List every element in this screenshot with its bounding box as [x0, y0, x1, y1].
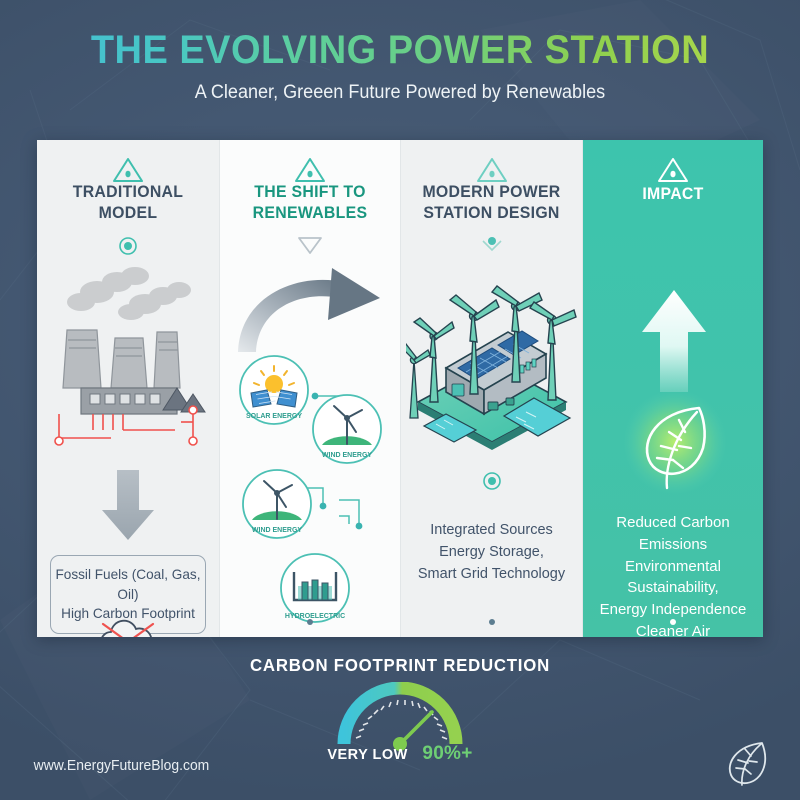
page-title: THE EVOLVING POWER STATION: [20, 28, 780, 73]
hydroelectric-badge[interactable]: HYDROELECTRIC: [277, 550, 353, 626]
column-title-line2: RENEWABLES: [224, 203, 397, 224]
triangle-eye-icon: [656, 156, 690, 184]
column-title-line2: MODEL: [41, 203, 216, 224]
columns-container: TRADITIONALMODEL: [37, 140, 763, 637]
co2-cloud-crossed-icon: CO₂: [95, 618, 161, 637]
footer-url[interactable]: www.EnergyFutureBlog.com: [34, 758, 210, 774]
hydroelectric-label: HYDROELECTRIC: [285, 613, 345, 620]
callout-line3: Environmental: [583, 556, 763, 578]
column-modern-power-station-design[interactable]: MODERN POWERSTATION DESIGN: [400, 140, 582, 637]
wind-energy-badge-2[interactable]: WIND ENERGY: [240, 467, 314, 541]
gauge-value: 90%+: [422, 743, 472, 764]
callout-line5: Energy Independence: [583, 599, 763, 621]
column-shift-to-renewables[interactable]: THE SHIFT TORENEWABLES: [219, 140, 400, 637]
column-title-line1: IMPACT: [587, 184, 760, 205]
modern-design-callout: Integrated Sources Energy Storage, Smart…: [401, 520, 582, 585]
gauge-section: CARBON FOOTPRINT REDUCTION VERY LOW 90%+: [0, 655, 800, 752]
solar-energy-badge[interactable]: SOLAR ENERGY: [237, 353, 311, 427]
concentric-ring-marker: [117, 235, 139, 257]
callout-line2: Emissions: [583, 534, 763, 556]
wind-energy-badge-1[interactable]: WIND ENERGY: [310, 392, 384, 466]
concentric-ring-marker: [481, 470, 503, 492]
column-bottom-dot: [307, 619, 313, 625]
page-subtitle: A Cleaner, Greeen Future Powered by Rene…: [20, 82, 780, 104]
gauge-scale-label: VERY LOW: [327, 747, 408, 763]
callout-line1: Reduced Carbon: [583, 512, 763, 534]
triangle-eye-icon: [475, 156, 509, 184]
column-title-line2: STATION DESIGN: [405, 203, 579, 224]
callout-line1: Integrated Sources: [401, 520, 582, 542]
callout-line2: Energy Storage,: [401, 542, 582, 564]
callout-line3: Smart Grid Technology: [401, 564, 582, 586]
callout-line4: Sustainability,: [583, 577, 763, 599]
column-title: IMPACT: [587, 184, 760, 205]
column-title: MODERN POWERSTATION DESIGN: [405, 182, 579, 224]
triangle-eye-icon: [293, 156, 327, 184]
column-title-line1: THE SHIFT TO: [224, 182, 397, 203]
solar-energy-label: SOLAR ENERGY: [246, 413, 302, 420]
column-title: THE SHIFT TORENEWABLES: [224, 182, 397, 224]
triangle-eye-icon: [111, 156, 145, 184]
column-title: TRADITIONALMODEL: [41, 182, 216, 224]
carbon-reduction-gauge: [0, 682, 800, 752]
glowing-leaf-icon: [621, 388, 729, 496]
coal-power-plant-icon: [45, 260, 211, 450]
curved-arrow-icon: [232, 268, 388, 354]
diamond-chevron-marker: [480, 235, 504, 255]
callout-line1: Fossil Fuels (Coal, Gas, Oil): [55, 565, 201, 604]
down-triangle-marker: [297, 235, 323, 255]
column-bottom-dot: [489, 619, 495, 625]
up-arrow-icon: [638, 288, 710, 396]
column-bottom-dot: [670, 619, 676, 625]
column-title-line1: TRADITIONAL: [41, 182, 216, 203]
column-title-line1: MODERN POWER: [405, 182, 579, 203]
isometric-renewable-plant-icon: [406, 272, 578, 452]
wind-energy-label-1: WIND ENERGY: [322, 452, 373, 459]
wind-energy-label-2: WIND ENERGY: [252, 527, 303, 534]
column-traditional-model[interactable]: TRADITIONALMODEL: [37, 140, 219, 637]
header: THE EVOLVING POWER STATION A Cleaner, Gr…: [0, 0, 800, 104]
column-impact[interactable]: IMPACT: [582, 140, 763, 637]
down-arrow-icon: [98, 470, 158, 542]
gauge-title: CARBON FOOTPRINT REDUCTION: [16, 655, 784, 676]
leaf-logo: [718, 735, 776, 787]
